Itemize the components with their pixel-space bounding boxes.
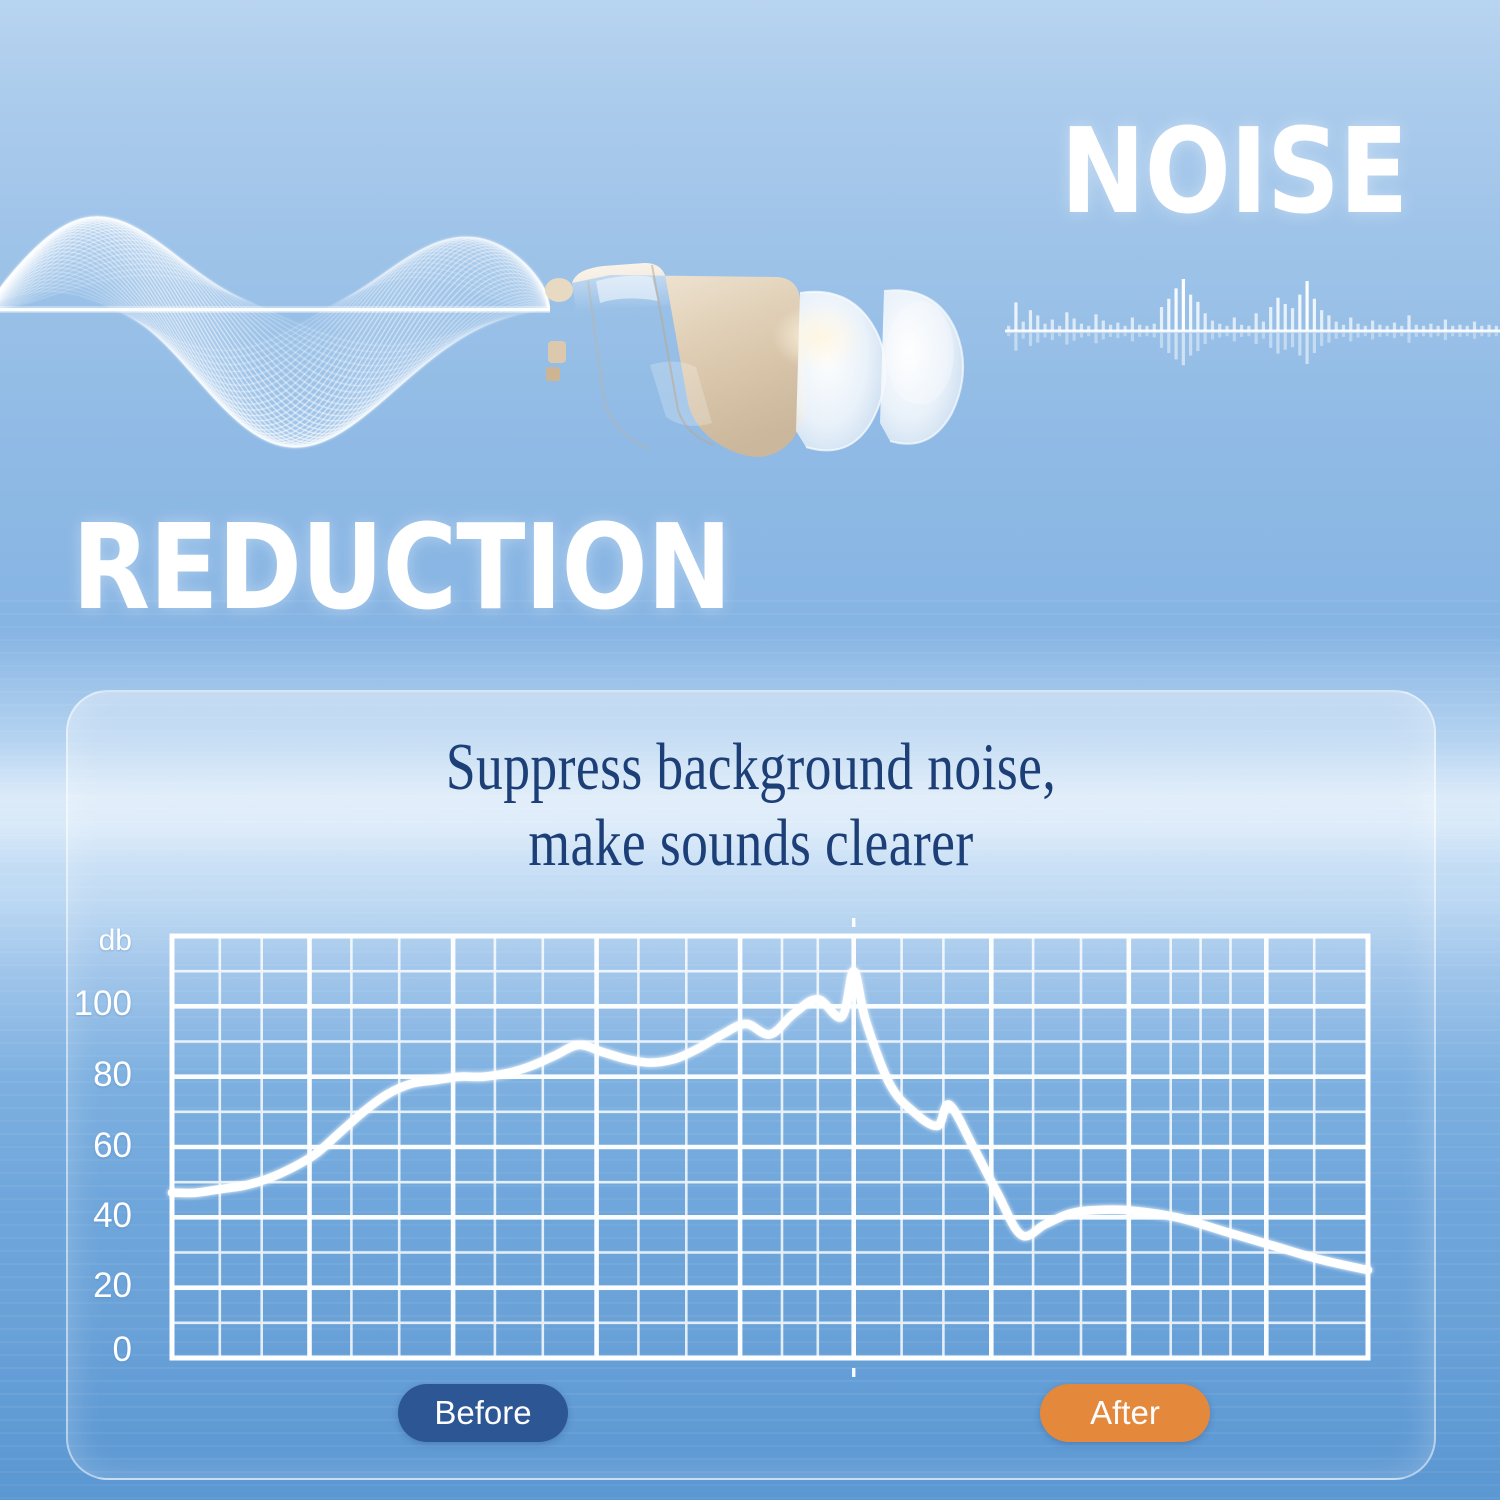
chart-ytick-60: 60	[42, 1126, 132, 1166]
chart-ytick-0: 0	[42, 1330, 132, 1370]
legend-after-button[interactable]: After	[1040, 1384, 1210, 1442]
chart-ytick-100: 100	[42, 984, 132, 1024]
legend-before-label: Before	[434, 1394, 531, 1432]
chart-ytick-40: 40	[42, 1196, 132, 1236]
noise-reduction-chart	[0, 0, 1500, 1500]
chart-ytick-80: 80	[42, 1055, 132, 1095]
legend-before-button[interactable]: Before	[398, 1384, 568, 1442]
chart-ytick-20: 20	[42, 1266, 132, 1306]
chart-y-unit-label: db	[42, 924, 132, 958]
legend-after-label: After	[1090, 1394, 1160, 1432]
